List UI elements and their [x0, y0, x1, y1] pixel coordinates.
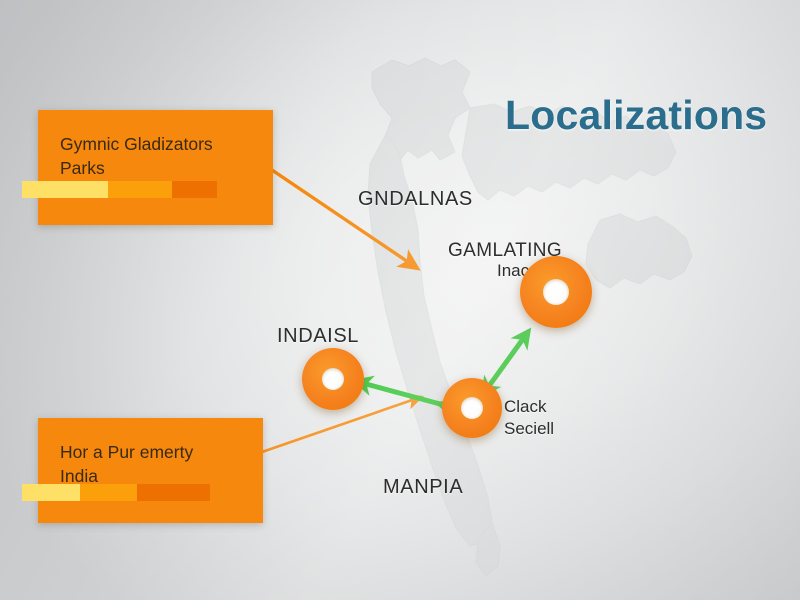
map-label-gndalnas: GNDALNAS	[358, 188, 473, 211]
map-marker-indaisl[interactable]	[302, 348, 364, 410]
progress-segment-light	[22, 181, 108, 198]
progress-segment-dark	[172, 181, 217, 198]
map-label-clack-seciell: Clack Seciell	[504, 396, 554, 440]
progress-segment-medium	[108, 181, 172, 198]
progress-segment-medium	[80, 484, 136, 501]
map-label-indaisl: INDAISL	[277, 325, 359, 348]
progress-segment-dark	[137, 484, 210, 501]
progress-bar-gymnic-gladizators-parks	[22, 181, 217, 198]
map-marker-gamlating[interactable]	[520, 256, 592, 328]
callout-card-title: Gymnic Gladizators Parks	[60, 132, 251, 180]
connector-center-to-indaisl	[366, 384, 440, 404]
callout-arrow-top	[272, 170, 414, 266]
slide-canvas: Localizations GNDALNAS GAMLATING Inac IN…	[0, 0, 800, 600]
callout-card-title: Hor a Pur emerty India	[60, 440, 241, 488]
callout-card-gymnic-gladizators-parks[interactable]: Gymnic Gladizators Parks	[38, 110, 273, 225]
page-title: Localizations	[505, 92, 767, 139]
callout-card-hor-a-pur-emerty-india[interactable]: Hor a Pur emerty India	[38, 418, 263, 523]
map-marker-center[interactable]	[442, 378, 502, 438]
map-label-manpia: MANPIA	[383, 476, 463, 499]
connector-center-to-gamlating	[489, 332, 528, 386]
progress-segment-light	[22, 484, 80, 501]
progress-bar-hor-a-pur-emerty-india	[22, 484, 210, 501]
